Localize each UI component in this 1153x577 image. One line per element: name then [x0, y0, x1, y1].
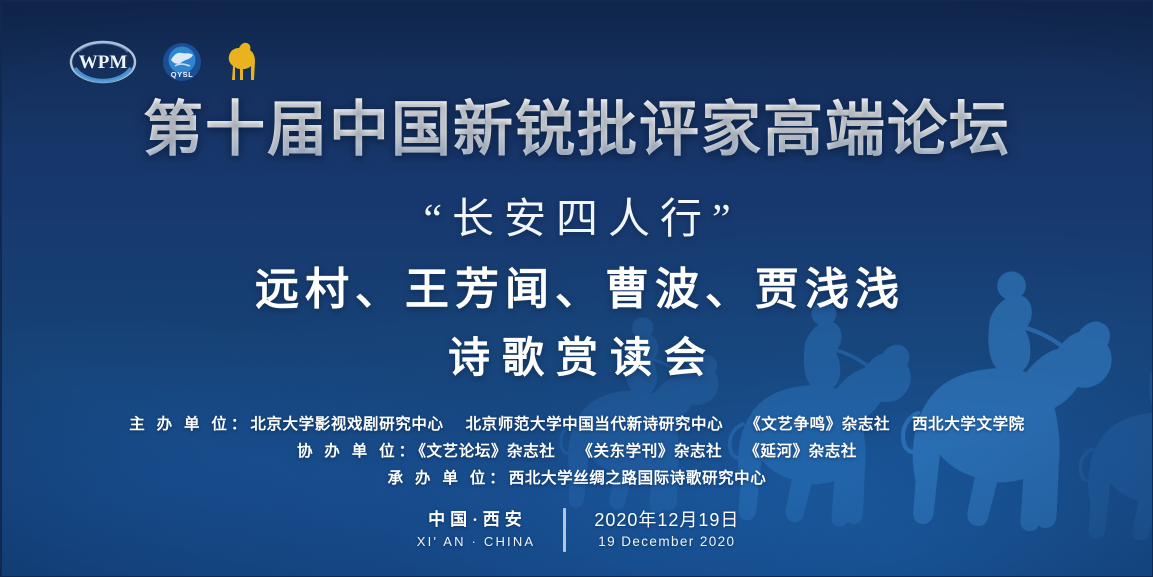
svg-text:WPM: WPM — [79, 52, 128, 73]
organizer-entry: 西北大学文学院 — [912, 416, 1025, 433]
organizer-line-undertaker: 承 办 单 位：西北大学丝绸之路国际诗歌研究中心 — [2, 465, 1152, 492]
event-type: 诗歌赏读会 — [2, 334, 1152, 384]
organizer-label-host: 主 办 单 位： — [129, 416, 250, 433]
footer-date-cn: 2020年12月19日 — [594, 508, 739, 532]
organizer-entry: 《延河》杂志社 — [744, 443, 857, 460]
wpm-logo-icon: WPM — [66, 38, 140, 86]
organizer-entry: 《文艺论坛》杂志社 — [418, 443, 555, 460]
event-subtitle-quoted: “长安四人行” — [2, 195, 1152, 245]
svg-text:QYSL: QYSL — [171, 70, 193, 79]
participant-names: 远村、王芳闻、曹波、贾浅浅 — [2, 264, 1152, 317]
footer-location-cn: 中国·西安 — [415, 508, 536, 532]
organizer-line-coorganizer: 协 办 单 位：《文艺论坛》杂志社《关东学刊》杂志社《延河》杂志社 — [2, 438, 1152, 465]
footer-date-en: 19 December 2020 — [594, 532, 739, 552]
organizer-line-host: 主 办 单 位：北京大学影视戏剧研究中心北京师范大学中国当代新诗研究中心《文艺争… — [2, 411, 1152, 438]
organizer-entry: 北京师范大学中国当代新诗研究中心 — [466, 416, 724, 433]
qysl-globe-logo-icon: QYSL — [162, 42, 202, 82]
organizer-label-undertaker: 承 办 单 位： — [388, 470, 509, 487]
footer-divider — [563, 508, 566, 552]
organizer-entry: 北京大学影视戏剧研究中心 — [250, 416, 443, 433]
logo-row: WPM QYSL — [66, 38, 260, 86]
footer-date: 2020年12月19日 19 December 2020 — [566, 508, 767, 552]
footer-location-en: XI' AN · CHINA — [415, 532, 536, 552]
organizer-credits: 主 办 单 位：北京大学影视戏剧研究中心北京师范大学中国当代新诗研究中心《文艺争… — [2, 411, 1152, 492]
footer-info: 中国·西安 XI' AN · CHINA 2020年12月19日 19 Dece… — [2, 508, 1152, 552]
footer-location: 中国·西安 XI' AN · CHINA — [387, 508, 564, 552]
event-headline: 第十届中国新锐批评家高端论坛 — [2, 97, 1152, 163]
organizer-entry: 《文艺争鸣》杂志社 — [745, 416, 890, 433]
organizer-label-coorganizer: 协 办 单 位： — [297, 443, 418, 460]
conference-banner: WPM QYSL 第十届中国新锐批评家高端论坛 “长安四人行” 远村、王芳闻、曹… — [0, 0, 1153, 577]
organizer-entry: 西北大学丝绸之路国际诗歌研究中心 — [509, 470, 767, 487]
organizer-entry: 《关东学刊》杂志社 — [577, 443, 722, 460]
golden-camel-logo-icon — [224, 40, 260, 84]
